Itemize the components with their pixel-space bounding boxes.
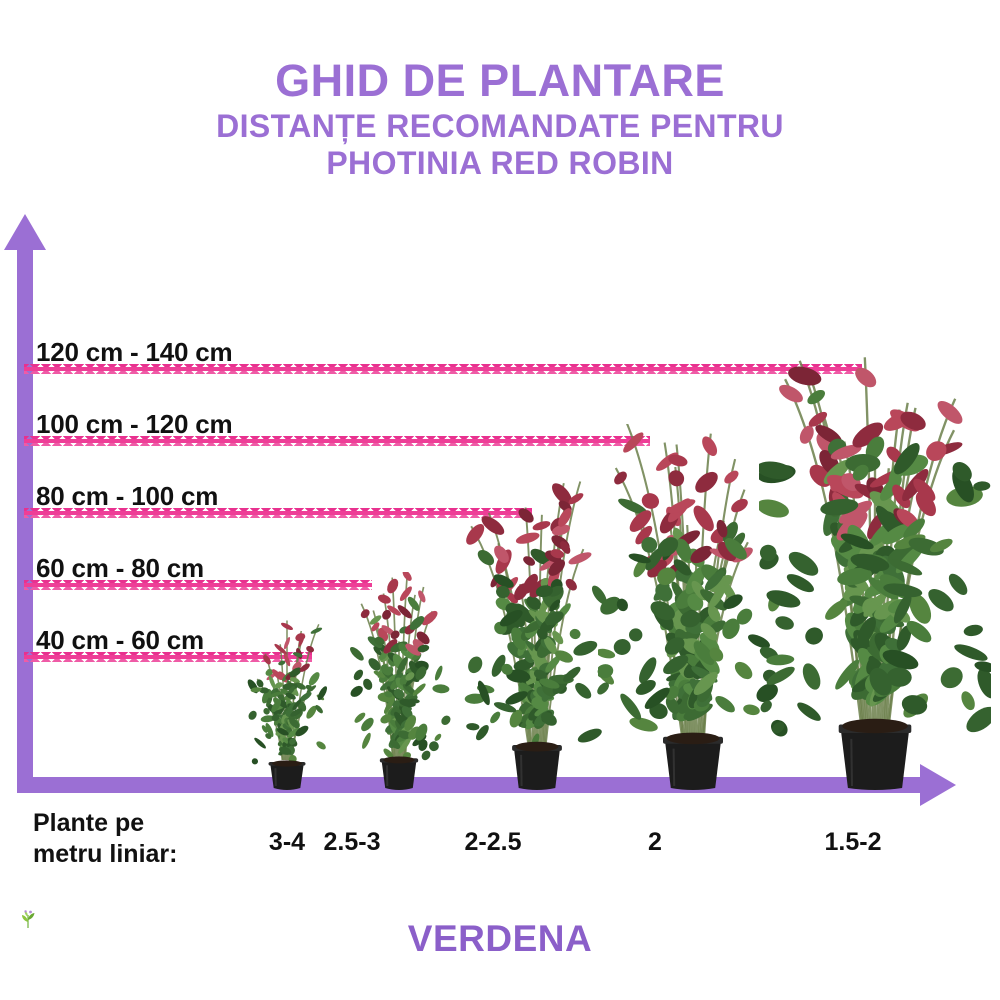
page-title: GHID DE PLANTARE DISTANȚE RECOMANDATE PE…	[0, 58, 1000, 179]
level-line-group: 100 cm - 120 cm	[24, 406, 650, 446]
level-zigzag-line	[24, 580, 372, 590]
plant-illustration	[241, 620, 333, 790]
x-axis-caption-line2: metru liniar:	[33, 839, 177, 870]
level-zigzag-line	[24, 436, 650, 446]
plant-illustration	[340, 572, 458, 790]
plant-illustration	[459, 480, 615, 790]
title-subtitle-2: PHOTINIA RED ROBIN	[0, 147, 1000, 179]
leaf-sprig-icon	[17, 909, 39, 929]
brand-logo: VERDENA	[0, 918, 1000, 960]
x-axis-tick-label: 2.5-3	[292, 828, 412, 857]
y-axis-arrow-icon	[4, 214, 46, 250]
brand-logo-text: VERDENA	[408, 918, 592, 960]
level-zigzag-line	[24, 364, 862, 374]
plant-illustration	[759, 338, 991, 790]
x-axis-tick-label: 1.5-2	[793, 828, 913, 857]
level-line-group: 60 cm - 80 cm	[24, 550, 372, 590]
title-main: GHID DE PLANTARE	[0, 58, 1000, 103]
x-axis-caption: Plante pe metru liniar:	[33, 808, 177, 871]
title-subtitle-1: DISTANȚE RECOMANDATE PENTRU	[0, 110, 1000, 142]
x-axis-caption-line1: Plante pe	[33, 808, 177, 839]
y-axis	[17, 248, 33, 793]
level-line-group: 120 cm - 140 cm	[24, 334, 862, 374]
x-axis-tick-label: 2-2.5	[433, 828, 553, 857]
level-zigzag-line	[24, 508, 532, 518]
x-axis-tick-label: 2	[595, 828, 715, 857]
level-line-group: 80 cm - 100 cm	[24, 478, 532, 518]
